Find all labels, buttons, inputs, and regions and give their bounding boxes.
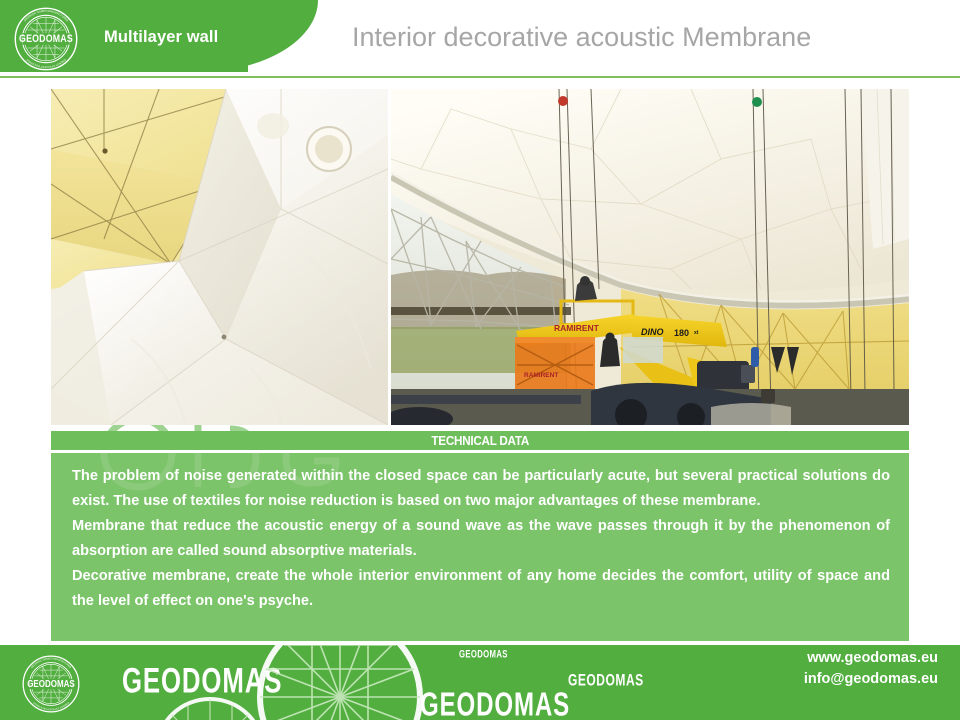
- svg-text:DINO: DINO: [641, 327, 664, 337]
- footer-contact-block: www.geodomas.eu info@geodomas.eu: [804, 648, 938, 690]
- header-section-tag: Multilayer wall: [104, 28, 218, 47]
- svg-text:RAMIRENT: RAMIRENT: [554, 323, 600, 333]
- svg-text:xt: xt: [694, 330, 699, 336]
- footer-wordmark-mid: GEODOMAS: [568, 670, 644, 689]
- slide-header: GEODOMAS GEODESIC DOMES MANUFACTURER ENE…: [0, 0, 960, 78]
- footer-geodomas-seal-logo-icon: GEODOMAS GEODESIC DOMES MANUFACTURER ENE…: [22, 655, 80, 713]
- geodomas-seal-logo-icon: GEODOMAS GEODESIC DOMES MANUFACTURER ENE…: [14, 7, 78, 71]
- svg-text:GEODOMAS: GEODOMAS: [27, 678, 75, 689]
- technical-paragraph-1: The problem of noise generated within th…: [72, 464, 890, 514]
- footer-wordmark-small: GEODOMAS: [459, 648, 508, 660]
- photo-dome-construction-lift: RAMIRENT DINO 180 xt RAMIRENT: [391, 89, 909, 425]
- geodesic-dome-graphic-small-icon: [150, 693, 270, 720]
- footer-wordmark-large: GEODOMAS: [420, 686, 570, 724]
- geodesic-dome-graphic-icon: [252, 645, 428, 720]
- svg-text:GEODOMAS: GEODOMAS: [19, 33, 73, 45]
- footer-website-link[interactable]: www.geodomas.eu: [804, 648, 938, 669]
- svg-text:180: 180: [674, 328, 689, 338]
- photo-membrane-ceiling-detail: [51, 89, 388, 425]
- page-title: Interior decorative acoustic Membrane: [352, 22, 811, 53]
- footer-email-link[interactable]: info@geodomas.eu: [804, 669, 938, 690]
- technical-paragraph-3: Decorative membrane, create the whole in…: [72, 564, 890, 614]
- svg-text:RAMIRENT: RAMIRENT: [524, 372, 558, 379]
- technical-data-header-label: TECHNICAL DATA: [431, 431, 529, 450]
- header-divider-rule: [0, 76, 960, 78]
- technical-data-header-rule: [51, 450, 909, 453]
- technical-data-header-bar: TECHNICAL DATA: [51, 431, 909, 450]
- technical-paragraph-2: Membrane that reduce the acoustic energy…: [72, 514, 890, 564]
- technical-data-body: The problem of noise generated within th…: [72, 464, 890, 614]
